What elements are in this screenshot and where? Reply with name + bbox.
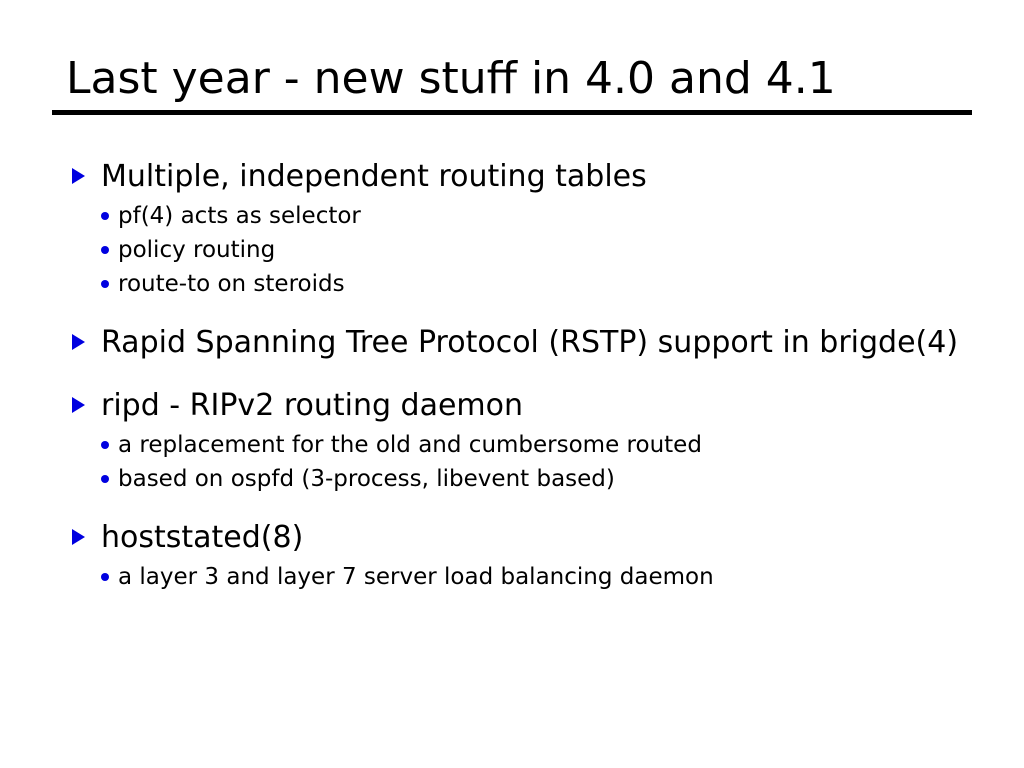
bullet-group: hoststated(8) a layer 3 and layer 7 serv…: [72, 517, 972, 594]
bullet-group: Rapid Spanning Tree Protocol (RSTP) supp…: [72, 322, 972, 364]
bullet-level1: Rapid Spanning Tree Protocol (RSTP) supp…: [72, 322, 972, 364]
bullet-level2-label: pf(4) acts as selector: [118, 199, 972, 233]
bullet-level2: based on ospfd (3-process, libevent base…: [101, 462, 972, 496]
bullet-level2: policy routing: [101, 233, 972, 267]
slide-body: Multiple, independent routing tables pf(…: [72, 156, 972, 594]
bullet-level2-label: a layer 3 and layer 7 server load balanc…: [118, 560, 972, 594]
page-title: Last year - new stuff in 4.0 and 4.1: [52, 52, 972, 106]
triangle-right-icon: [72, 517, 101, 545]
slide-title-block: Last year - new stuff in 4.0 and 4.1: [52, 52, 972, 115]
bullet-level1: ripd - RIPv2 routing daemon: [72, 385, 972, 427]
bullet-level1: Multiple, independent routing tables: [72, 156, 972, 198]
dot-icon: [101, 233, 118, 254]
bullet-level1-label: Multiple, independent routing tables: [101, 156, 972, 198]
bullet-level2: route-to on steroids: [101, 267, 972, 301]
bullet-group: ripd - RIPv2 routing daemon a replacemen…: [72, 385, 972, 496]
bullet-level1-label: ripd - RIPv2 routing daemon: [101, 385, 972, 427]
triangle-right-icon: [72, 156, 101, 184]
triangle-right-icon: [72, 322, 101, 350]
bullet-level1-label: Rapid Spanning Tree Protocol (RSTP) supp…: [101, 322, 972, 364]
title-divider: [52, 110, 972, 115]
dot-icon: [101, 560, 118, 581]
bullet-level2-label: a replacement for the old and cumbersome…: [118, 428, 972, 462]
bullet-level2-label: based on ospfd (3-process, libevent base…: [118, 462, 972, 496]
bullet-level1: hoststated(8): [72, 517, 972, 559]
bullet-level2: pf(4) acts as selector: [101, 199, 972, 233]
dot-icon: [101, 428, 118, 449]
bullet-group: Multiple, independent routing tables pf(…: [72, 156, 972, 301]
dot-icon: [101, 267, 118, 288]
bullet-level2-label: policy routing: [118, 233, 972, 267]
bullet-level2: a layer 3 and layer 7 server load balanc…: [101, 560, 972, 594]
bullet-level2-label: route-to on steroids: [118, 267, 972, 301]
triangle-right-icon: [72, 385, 101, 413]
bullet-level2: a replacement for the old and cumbersome…: [101, 428, 972, 462]
slide: Last year - new stuff in 4.0 and 4.1 Mul…: [0, 0, 1024, 768]
bullet-level1-label: hoststated(8): [101, 517, 972, 559]
dot-icon: [101, 462, 118, 483]
dot-icon: [101, 199, 118, 220]
